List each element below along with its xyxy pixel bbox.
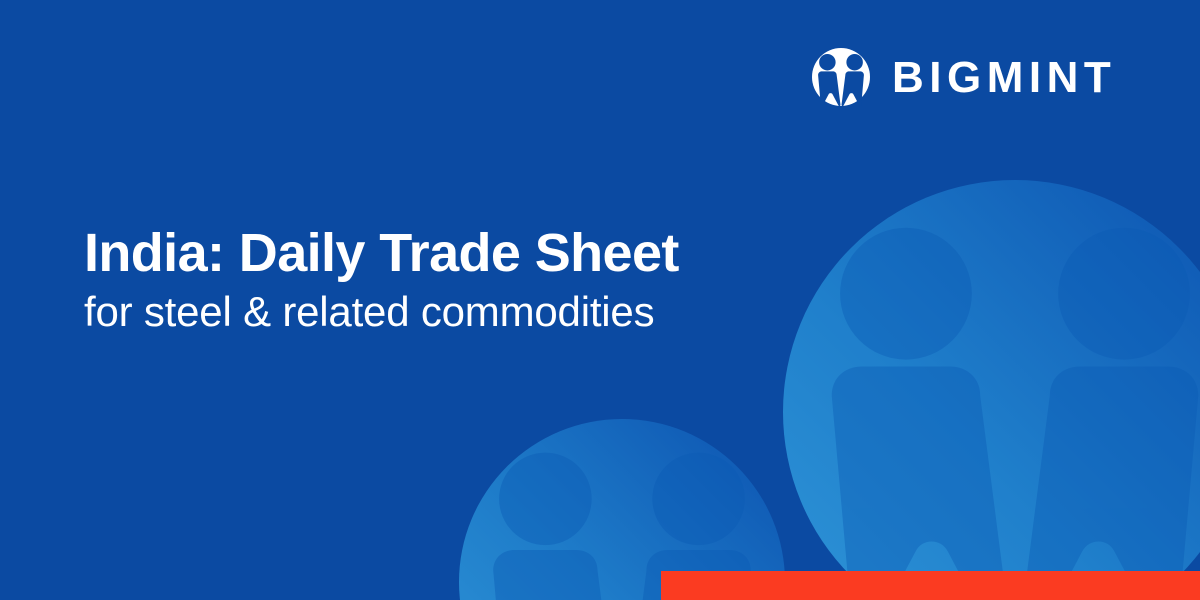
accent-bar bbox=[661, 571, 1200, 600]
bigmint-watermark-large-icon bbox=[783, 180, 1200, 600]
promo-banner: BIGMINT India: Daily Trade Sheet for ste… bbox=[0, 0, 1200, 600]
headline-block: India: Daily Trade Sheet for steel & rel… bbox=[84, 224, 784, 335]
brand-lockup[interactable]: BIGMINT bbox=[812, 47, 1116, 107]
page-subtitle: for steel & related commodities bbox=[84, 288, 784, 335]
page-title: India: Daily Trade Sheet bbox=[84, 224, 784, 282]
bigmint-logo-icon bbox=[812, 48, 870, 106]
brand-wordmark: BIGMINT bbox=[892, 56, 1116, 100]
